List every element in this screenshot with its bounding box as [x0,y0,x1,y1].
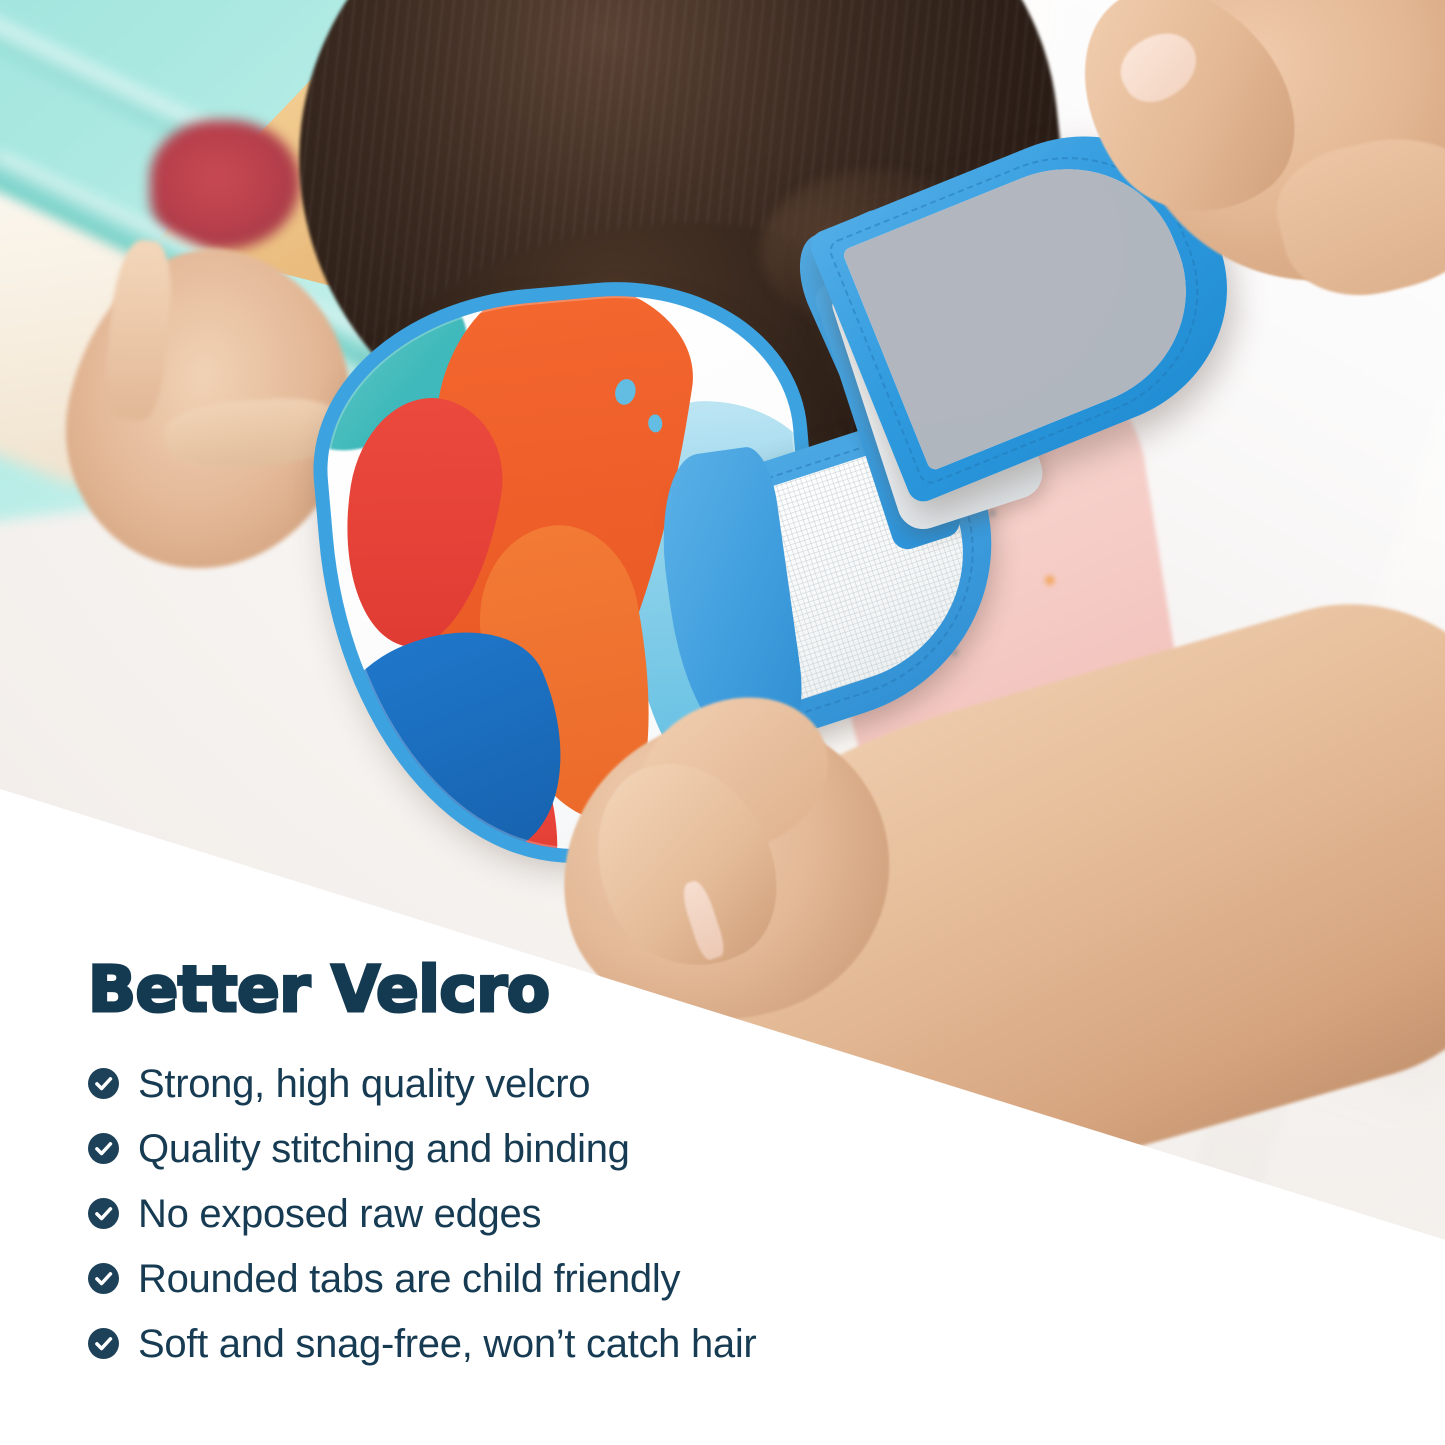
list-item-label: Rounded tabs are child friendly [138,1259,680,1299]
check-circle-icon [88,1198,119,1229]
list-item: Soft and snag-free, won’t catch hair [88,1311,1088,1376]
adult-hand-upper [1090,0,1445,370]
list-item-label: Quality stitching and binding [138,1129,630,1169]
feature-callout: Better Velcro Strong, high quality velcr… [88,958,1088,1376]
marketing-image-canvas: Better Velcro Strong, high quality velcr… [0,0,1445,1445]
check-circle-icon [88,1133,119,1164]
list-item-label: No exposed raw edges [138,1194,541,1234]
page-title: Better Velcro [88,958,1088,1021]
check-circle-icon [88,1328,119,1359]
list-item: No exposed raw edges [88,1181,1088,1246]
list-item: Rounded tabs are child friendly [88,1246,1088,1311]
feature-list: Strong, high quality velcro Quality stit… [88,1051,1088,1376]
list-item-label: Soft and snag-free, won’t catch hair [138,1324,756,1364]
list-item-label: Strong, high quality velcro [138,1064,590,1104]
list-item: Quality stitching and binding [88,1116,1088,1181]
check-circle-icon [88,1068,119,1099]
check-circle-icon [88,1263,119,1294]
list-item: Strong, high quality velcro [88,1051,1088,1116]
